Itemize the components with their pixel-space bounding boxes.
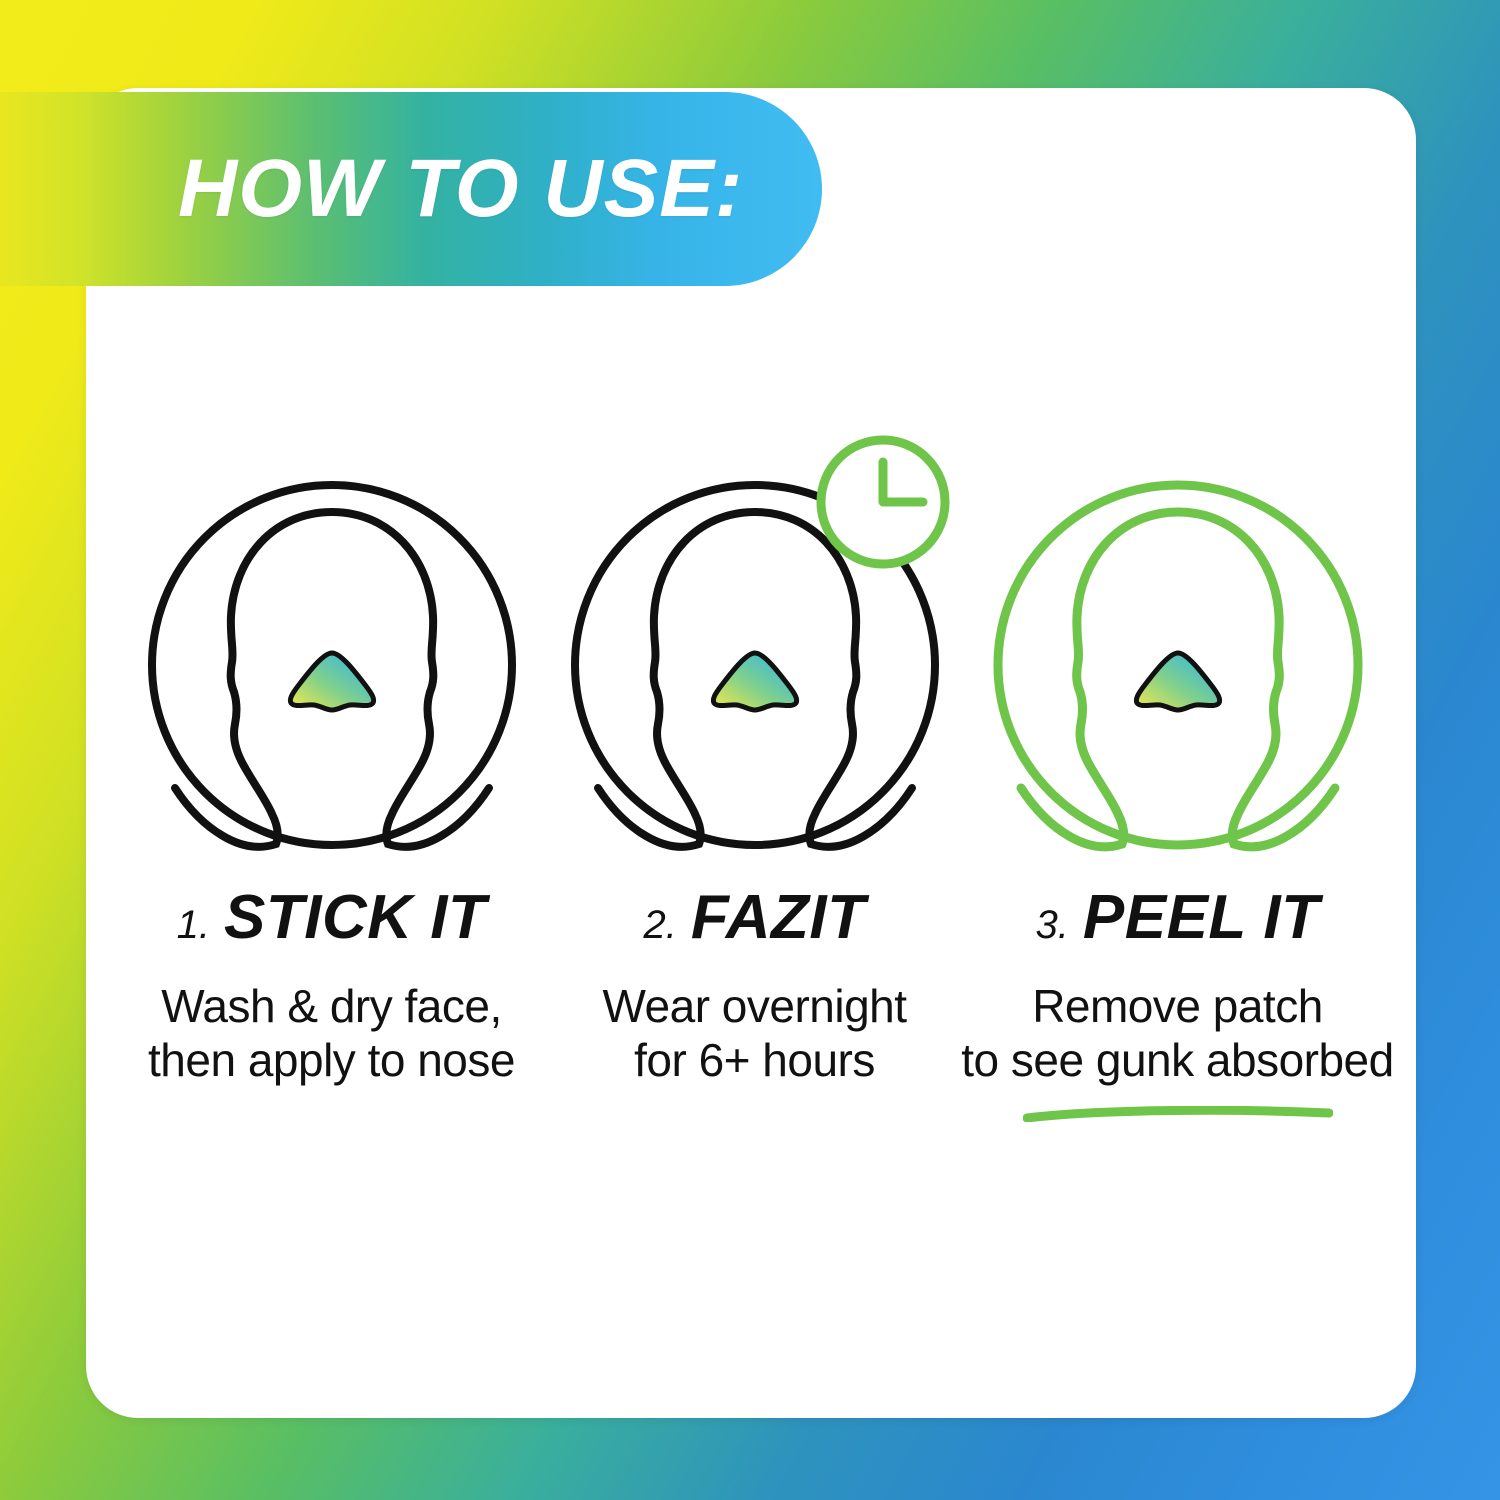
- step-3-description: Remove patch to see gunk absorbed: [928, 979, 1428, 1088]
- step-3-heading: 3. PEEL IT: [1036, 882, 1320, 953]
- green-underline-mark: [1023, 1106, 1333, 1122]
- step-3-figure: [988, 470, 1368, 860]
- step-1-number: 1.: [177, 903, 210, 948]
- step-1-description: Wash & dry face, then apply to nose: [148, 979, 515, 1088]
- nose-patch: [1136, 653, 1219, 710]
- step-2-figure: [565, 470, 945, 860]
- page-title: HOW TO USE:: [178, 142, 743, 236]
- nose-patch: [713, 653, 796, 710]
- header-banner: HOW TO USE:: [0, 92, 822, 286]
- step-1-title: STICK IT: [224, 882, 486, 953]
- step-2-number: 2.: [643, 903, 676, 948]
- nose-patch: [290, 653, 373, 710]
- step-1-figure: [142, 470, 522, 860]
- step-1-heading: 1. STICK IT: [177, 882, 487, 953]
- step-2-heading: 2. FAZIT: [643, 882, 865, 953]
- step-2-description: Wear overnight for 6+ hours: [602, 979, 906, 1088]
- step-2-title: FAZIT: [691, 882, 866, 953]
- clock-icon: [821, 440, 945, 564]
- infographic-root: HOW TO USE:: [0, 0, 1500, 1500]
- step-3-number: 3.: [1036, 903, 1069, 948]
- step-3: 3. PEEL IT Remove patch to see gunk abso…: [966, 470, 1389, 1088]
- step-2: 2. FAZIT Wear overnight for 6+ hours: [543, 470, 966, 1088]
- step-1: 1. STICK IT Wash & dry face, then apply …: [120, 470, 543, 1088]
- steps-row: 1. STICK IT Wash & dry face, then apply …: [120, 470, 1390, 1088]
- step-3-title: PEEL IT: [1083, 882, 1320, 953]
